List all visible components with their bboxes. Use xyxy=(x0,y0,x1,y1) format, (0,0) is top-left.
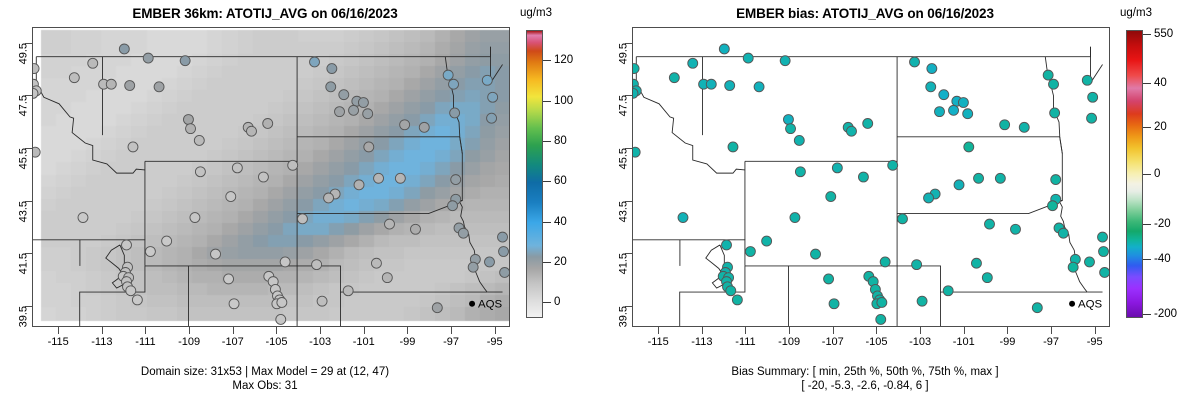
observation-marker xyxy=(327,64,337,74)
observation-marker xyxy=(943,286,953,296)
x-tick-label: -95 xyxy=(1087,336,1103,348)
observation-marker xyxy=(78,213,88,223)
colorbar-model: ug/m3 020406080100120 xyxy=(512,27,602,327)
observation-marker xyxy=(1098,232,1108,242)
observation-marker xyxy=(722,240,732,250)
colorbar-bias-units: ug/m3 xyxy=(1112,7,1160,19)
x-tick-label: -113 xyxy=(91,336,112,348)
observation-marker xyxy=(106,79,116,89)
observation-marker xyxy=(33,64,39,74)
observation-marker xyxy=(829,299,839,309)
observation-marker xyxy=(912,260,922,270)
colorbar-tick xyxy=(543,181,551,182)
observation-marker xyxy=(1088,92,1098,102)
observation-marker xyxy=(363,109,373,119)
colorbar-tick xyxy=(1143,83,1151,84)
x-tick-label: -95 xyxy=(487,336,503,348)
state-boundary xyxy=(460,137,463,154)
model-caption-line1: Domain size: 31x53 | Max Model = 29 at (… xyxy=(0,365,530,379)
colorbar-model-gradient xyxy=(526,30,543,318)
observation-marker xyxy=(371,258,381,268)
aqs-legend-dot xyxy=(469,301,475,307)
observation-marker xyxy=(1011,224,1021,234)
y-axis-bias: 39.541.543.545.547.549.5 xyxy=(600,27,632,327)
observation-marker xyxy=(726,286,736,296)
observation-marker xyxy=(669,73,679,83)
colorbar-tick xyxy=(543,302,551,303)
x-tick xyxy=(189,327,190,334)
x-tick-label: -109 xyxy=(178,336,200,348)
observation-marker xyxy=(725,81,735,91)
colorbar-tick-label: 120 xyxy=(554,54,573,66)
colorbar-tick-label: 550 xyxy=(1154,28,1173,40)
observation-marker xyxy=(449,79,459,89)
state-boundary xyxy=(1045,57,1087,292)
observation-marker xyxy=(1050,108,1060,118)
colorbar-tick-label: 60 xyxy=(554,175,567,187)
observation-marker xyxy=(485,257,495,267)
observation-marker xyxy=(719,44,729,54)
observation-marker xyxy=(229,299,239,309)
observation-marker xyxy=(119,44,129,54)
colorbar-tick-label: 0 xyxy=(554,296,560,308)
x-tick-label: -111 xyxy=(135,336,155,348)
observation-marker xyxy=(863,118,873,128)
observation-marker xyxy=(498,232,508,242)
state-boundary xyxy=(1090,47,1102,83)
observation-marker xyxy=(688,58,698,68)
colorbar-tick-label: -200 xyxy=(1154,308,1177,320)
observation-marker xyxy=(276,314,286,324)
x-tick-label: -115 xyxy=(648,336,669,348)
observation-marker xyxy=(832,163,842,173)
observation-marker xyxy=(1051,175,1061,185)
observation-marker xyxy=(258,172,268,182)
x-tick xyxy=(320,327,321,334)
y-tick-label: 47.5 xyxy=(617,95,629,116)
observation-marker xyxy=(180,56,190,66)
x-axis-bias: -115-113-111-109-107-105-103-101-99-97-9… xyxy=(632,327,1110,357)
x-tick-label: -111 xyxy=(735,336,755,348)
observation-marker xyxy=(732,295,742,305)
observation-marker xyxy=(88,58,98,68)
observation-marker xyxy=(317,296,327,306)
y-axis-model: 39.541.543.545.547.549.5 xyxy=(0,27,32,327)
observation-marker xyxy=(633,147,640,157)
x-tick xyxy=(364,327,365,334)
x-tick xyxy=(276,327,277,334)
observation-marker xyxy=(310,57,320,67)
observation-marker xyxy=(382,273,392,283)
observation-marker xyxy=(678,213,688,223)
observation-marker xyxy=(826,192,836,202)
observation-marker xyxy=(145,247,155,257)
observation-marker xyxy=(1100,267,1109,277)
x-tick-label: -99 xyxy=(999,336,1015,348)
panel-bias: EMBER bias: ATOTIJ_AVG on 06/16/2023 39.… xyxy=(600,0,1200,409)
observation-marker xyxy=(154,82,164,92)
x-tick-label: -107 xyxy=(222,336,244,348)
observation-marker xyxy=(263,118,273,128)
observation-marker xyxy=(358,98,368,108)
x-axis-model: -115-113-111-109-107-105-103-101-99-97-9… xyxy=(32,327,510,357)
observation-marker xyxy=(728,142,738,152)
x-tick xyxy=(964,327,965,334)
colorbar-tick xyxy=(543,141,551,142)
observation-marker xyxy=(247,126,257,136)
observation-marker xyxy=(122,240,132,250)
observation-marker xyxy=(939,90,949,100)
observation-marker xyxy=(1087,113,1097,123)
observation-marker xyxy=(335,107,345,117)
colorbar-tick xyxy=(543,101,551,102)
state-boundary xyxy=(297,201,462,214)
observation-marker xyxy=(432,303,442,313)
colorbar-bias: ug/m3 -200-40-2002040550 xyxy=(1112,27,1200,327)
colorbar-tick xyxy=(543,262,551,263)
x-tick xyxy=(789,327,790,334)
observation-marker xyxy=(858,172,868,182)
figure-root: EMBER 36km: ATOTIJ_AVG on 06/16/2023 39.… xyxy=(0,0,1200,409)
observation-marker xyxy=(1043,70,1053,80)
colorbar-model-units: ug/m3 xyxy=(512,7,560,19)
observation-marker xyxy=(297,214,307,224)
x-tick-label: -105 xyxy=(265,336,287,348)
panel-model-title: EMBER 36km: ATOTIJ_AVG on 06/16/2023 xyxy=(0,6,530,21)
colorbar-bias-gradient xyxy=(1126,30,1143,318)
observation-marker xyxy=(288,160,298,170)
panel-bias-title: EMBER bias: ATOTIJ_AVG on 06/16/2023 xyxy=(600,6,1130,21)
x-tick xyxy=(407,327,408,334)
observation-marker xyxy=(468,262,478,272)
observation-marker xyxy=(985,219,995,229)
state-boundary xyxy=(636,47,1090,57)
colorbar-tick-label: 0 xyxy=(1154,168,1160,180)
colorbar-tick xyxy=(543,222,551,223)
observation-marker xyxy=(458,228,468,238)
x-tick xyxy=(658,327,659,334)
colorbar-tick xyxy=(1143,224,1151,225)
y-tick-label: 49.5 xyxy=(17,43,29,64)
x-tick xyxy=(702,327,703,334)
observation-marker xyxy=(743,53,753,63)
plot-area-bias: AQS xyxy=(632,27,1110,327)
observation-marker xyxy=(1049,79,1059,89)
x-tick-label: -109 xyxy=(778,336,800,348)
state-boundary xyxy=(445,57,487,292)
observation-marker xyxy=(897,214,907,224)
observation-marker xyxy=(385,219,395,229)
observation-marker xyxy=(876,314,886,324)
observation-marker xyxy=(754,82,764,92)
observation-marker xyxy=(487,113,497,123)
observation-marker xyxy=(910,57,920,67)
colorbar-tick-label: 100 xyxy=(554,95,573,107)
x-tick xyxy=(1095,327,1096,334)
observation-marker xyxy=(795,167,805,177)
bias-map-overlay: AQS xyxy=(633,28,1109,326)
observation-marker xyxy=(786,124,796,134)
observation-marker xyxy=(324,193,334,203)
x-tick-label: -103 xyxy=(309,336,331,348)
observation-marker xyxy=(499,247,509,257)
x-tick xyxy=(876,327,877,334)
x-tick-label: -97 xyxy=(1043,336,1059,348)
y-tick-label: 47.5 xyxy=(17,95,29,116)
observation-marker xyxy=(877,297,887,307)
observation-marker xyxy=(780,56,790,66)
observation-marker xyxy=(633,64,639,74)
x-tick xyxy=(102,327,103,334)
observation-marker xyxy=(125,81,135,91)
observation-marker xyxy=(280,257,290,267)
observation-marker xyxy=(374,173,384,183)
observation-marker xyxy=(982,273,992,283)
observation-marker xyxy=(186,124,196,134)
observation-marker xyxy=(364,142,374,152)
observation-marker xyxy=(1019,122,1029,132)
x-tick xyxy=(233,327,234,334)
observation-marker xyxy=(971,258,981,268)
y-tick-label: 39.5 xyxy=(617,306,629,327)
observation-marker xyxy=(232,163,242,173)
observation-marker xyxy=(33,147,40,157)
x-tick xyxy=(1007,327,1008,334)
colorbar-tick xyxy=(1143,314,1151,315)
observation-marker xyxy=(927,64,937,74)
observation-marker xyxy=(482,75,492,85)
observation-marker xyxy=(783,115,793,125)
x-tick-label: -105 xyxy=(865,336,887,348)
colorbar-tick xyxy=(543,60,551,61)
colorbar-tick xyxy=(1143,259,1151,260)
panel-model: EMBER 36km: ATOTIJ_AVG on 06/16/2023 39.… xyxy=(0,0,600,409)
observation-marker xyxy=(450,108,460,118)
observation-marker xyxy=(964,142,974,152)
x-tick-label: -97 xyxy=(443,336,459,348)
observation-marker xyxy=(1000,120,1010,130)
colorbar-tick-label: 40 xyxy=(554,216,567,228)
x-tick-label: -101 xyxy=(953,336,975,348)
y-tick-label: 41.5 xyxy=(17,253,29,274)
state-boundary xyxy=(490,47,502,83)
observation-marker xyxy=(706,79,716,89)
observation-marker xyxy=(226,192,236,202)
observation-marker xyxy=(411,224,421,234)
aqs-legend-label: AQS xyxy=(478,299,503,311)
observation-marker xyxy=(69,73,79,83)
observation-marker xyxy=(794,135,804,145)
y-tick-label: 45.5 xyxy=(617,148,629,169)
y-tick-label: 43.5 xyxy=(617,201,629,222)
observation-marker xyxy=(745,247,755,257)
y-tick-label: 45.5 xyxy=(17,148,29,169)
colorbar-tick xyxy=(1143,174,1151,175)
observation-marker xyxy=(143,53,153,63)
observation-marker xyxy=(190,213,200,223)
aqs-legend-label: AQS xyxy=(1078,299,1103,311)
observation-marker xyxy=(343,286,353,296)
observation-marker xyxy=(195,167,205,177)
colorbar-tick xyxy=(1143,127,1151,128)
y-tick-label: 49.5 xyxy=(617,43,629,64)
observation-marker xyxy=(1085,257,1095,267)
observation-marker xyxy=(132,295,142,305)
observation-marker xyxy=(451,175,461,185)
observation-marker xyxy=(935,107,945,117)
observation-marker xyxy=(1099,247,1109,257)
x-tick xyxy=(451,327,452,334)
x-tick xyxy=(920,327,921,334)
observation-marker xyxy=(974,173,984,183)
colorbar-tick-label: 40 xyxy=(1154,77,1167,89)
observation-marker xyxy=(880,257,890,267)
x-tick-label: -101 xyxy=(353,336,375,348)
observation-marker xyxy=(500,267,509,277)
x-tick-label: -115 xyxy=(48,336,69,348)
x-tick-label: -113 xyxy=(691,336,712,348)
observation-marker xyxy=(312,260,322,270)
observation-marker xyxy=(995,173,1005,183)
observation-marker xyxy=(924,193,934,203)
observation-marker xyxy=(162,236,172,246)
colorbar-tick-label: 20 xyxy=(1154,121,1167,133)
x-tick xyxy=(145,327,146,334)
observation-marker xyxy=(339,90,349,100)
x-tick xyxy=(495,327,496,334)
observation-marker xyxy=(1082,75,1092,85)
observation-marker xyxy=(811,249,821,259)
x-tick xyxy=(833,327,834,334)
bias-caption-line2: [ -20, -5.3, -2.6, -0.84, 6 ] xyxy=(600,379,1130,393)
model-map-overlay: AQS xyxy=(33,28,509,326)
observation-marker xyxy=(419,122,429,132)
state-boundary xyxy=(636,83,745,173)
observation-marker xyxy=(349,105,359,115)
x-tick xyxy=(1051,327,1052,334)
observation-marker xyxy=(488,92,498,102)
plot-area-model: AQS xyxy=(32,27,510,327)
observation-marker xyxy=(847,126,857,136)
x-tick xyxy=(745,327,746,334)
observation-marker xyxy=(224,274,234,284)
colorbar-tick-label: 20 xyxy=(554,256,567,268)
observation-marker xyxy=(1032,303,1042,313)
x-tick-label: -107 xyxy=(822,336,844,348)
x-tick-label: -103 xyxy=(909,336,931,348)
state-boundary xyxy=(36,47,490,57)
y-tick-label: 39.5 xyxy=(17,306,29,327)
observation-marker xyxy=(1068,262,1078,272)
observation-marker xyxy=(395,173,405,183)
observation-marker xyxy=(183,115,193,125)
colorbar-tick-label: -20 xyxy=(1154,218,1171,230)
colorbar-tick-label: 80 xyxy=(554,135,567,147)
aqs-legend-dot xyxy=(1069,301,1075,307)
observation-marker xyxy=(194,135,204,145)
state-boundary xyxy=(1060,137,1063,154)
observation-marker xyxy=(762,236,772,246)
observation-marker xyxy=(963,109,973,119)
observation-marker xyxy=(917,296,927,306)
observation-marker xyxy=(126,286,136,296)
observation-marker xyxy=(354,180,364,190)
y-tick-label: 43.5 xyxy=(17,201,29,222)
x-tick-label: -99 xyxy=(399,336,415,348)
observation-marker xyxy=(926,82,936,92)
observation-marker xyxy=(443,70,453,80)
model-caption-line2: Max Obs: 31 xyxy=(0,379,530,393)
state-boundary xyxy=(36,83,145,173)
state-boundary xyxy=(897,201,1062,214)
observation-marker xyxy=(949,105,959,115)
y-tick-label: 41.5 xyxy=(617,253,629,274)
observation-marker xyxy=(326,82,336,92)
observation-marker xyxy=(277,297,287,307)
bias-caption-line1: Bias Summary: [ min, 25th %, 50th %, 75t… xyxy=(600,365,1130,379)
x-tick xyxy=(58,327,59,334)
observation-marker xyxy=(128,142,138,152)
observation-marker xyxy=(888,160,898,170)
observation-marker xyxy=(400,120,410,130)
observation-marker xyxy=(448,201,458,211)
observation-marker xyxy=(954,180,964,190)
observation-marker xyxy=(824,274,834,284)
observation-marker xyxy=(790,213,800,223)
colorbar-tick xyxy=(1143,34,1151,35)
colorbar-tick-label: -40 xyxy=(1154,253,1171,265)
observation-marker xyxy=(1048,201,1058,211)
observation-marker xyxy=(211,249,221,259)
observation-marker xyxy=(1058,228,1068,238)
observation-marker xyxy=(958,98,968,108)
